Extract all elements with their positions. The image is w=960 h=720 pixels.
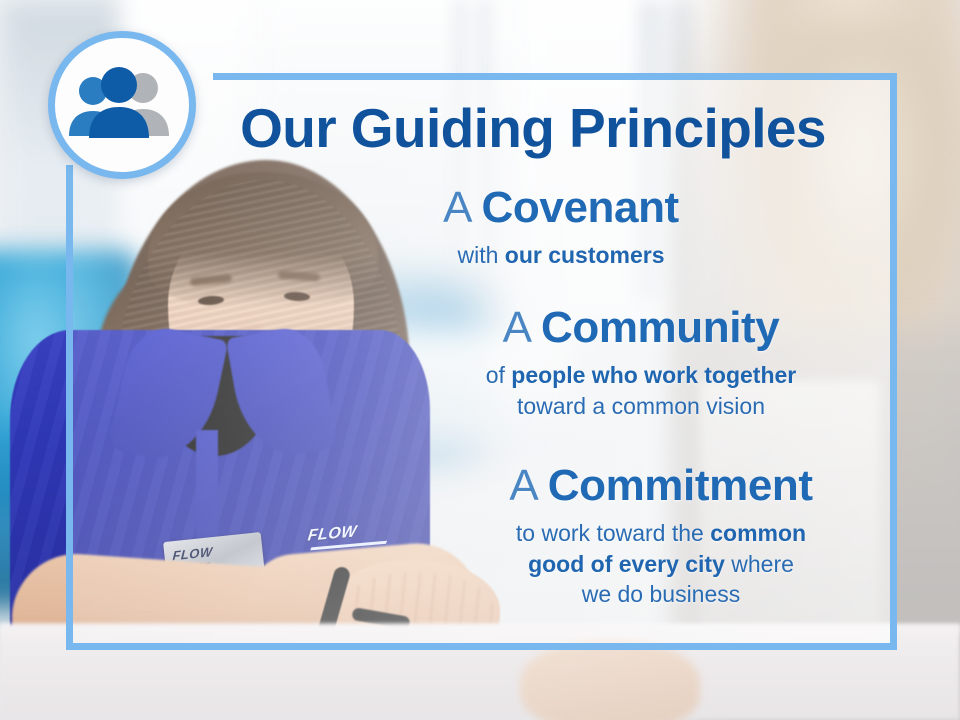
group-of-people-icon xyxy=(48,31,196,179)
principle-block-community: A Community of people who work togethert… xyxy=(391,305,891,421)
principle-subtext-line: good of every city where xyxy=(431,549,891,579)
principle-word: Community xyxy=(541,303,779,352)
customer-hand-blur xyxy=(520,640,700,720)
principle-article: A xyxy=(509,461,536,510)
guiding-principles-graphic: FLOW Automotive FLOW xyxy=(0,0,960,720)
principle-article: A xyxy=(503,303,530,352)
principle-block-commitment: A Commitment to work toward the commongo… xyxy=(431,463,891,609)
plain-text: toward a common vision xyxy=(517,393,765,419)
principle-heading: A Covenant xyxy=(331,185,791,231)
emphasis-text: good of every city xyxy=(528,551,725,577)
principle-subtext: of people who work togethertoward a comm… xyxy=(391,360,891,421)
plain-text: of xyxy=(486,362,512,388)
frame-border-left xyxy=(66,165,73,650)
principle-subtext: to work toward the commongood of every c… xyxy=(431,518,891,609)
plain-text: with xyxy=(457,242,504,268)
emphasis-text: common xyxy=(710,520,806,546)
principle-subtext: with our customers xyxy=(331,240,791,270)
emphasis-text: our customers xyxy=(505,242,665,268)
principle-article: A xyxy=(443,183,470,232)
message-content: Our Guiding Principles A Covenant with o… xyxy=(213,73,897,650)
principle-subtext-line: to work toward the common xyxy=(431,518,891,548)
page-title: Our Guiding Principles xyxy=(213,101,853,156)
plain-text: we do business xyxy=(582,581,741,607)
principle-subtext-line: of people who work together xyxy=(391,360,891,390)
principle-word: Covenant xyxy=(482,183,679,232)
principle-subtext-line: toward a common vision xyxy=(391,391,891,421)
plain-text: to work toward the xyxy=(516,520,710,546)
principle-heading: A Commitment xyxy=(431,463,891,509)
plain-text: where xyxy=(725,551,794,577)
principle-subtext-line: we do business xyxy=(431,579,891,609)
principle-block-covenant: A Covenant with our customers xyxy=(331,185,791,271)
principle-subtext-line: with our customers xyxy=(331,240,791,270)
principle-word: Commitment xyxy=(548,461,813,510)
emphasis-text: people who work together xyxy=(511,362,796,388)
principle-heading: A Community xyxy=(391,305,891,351)
